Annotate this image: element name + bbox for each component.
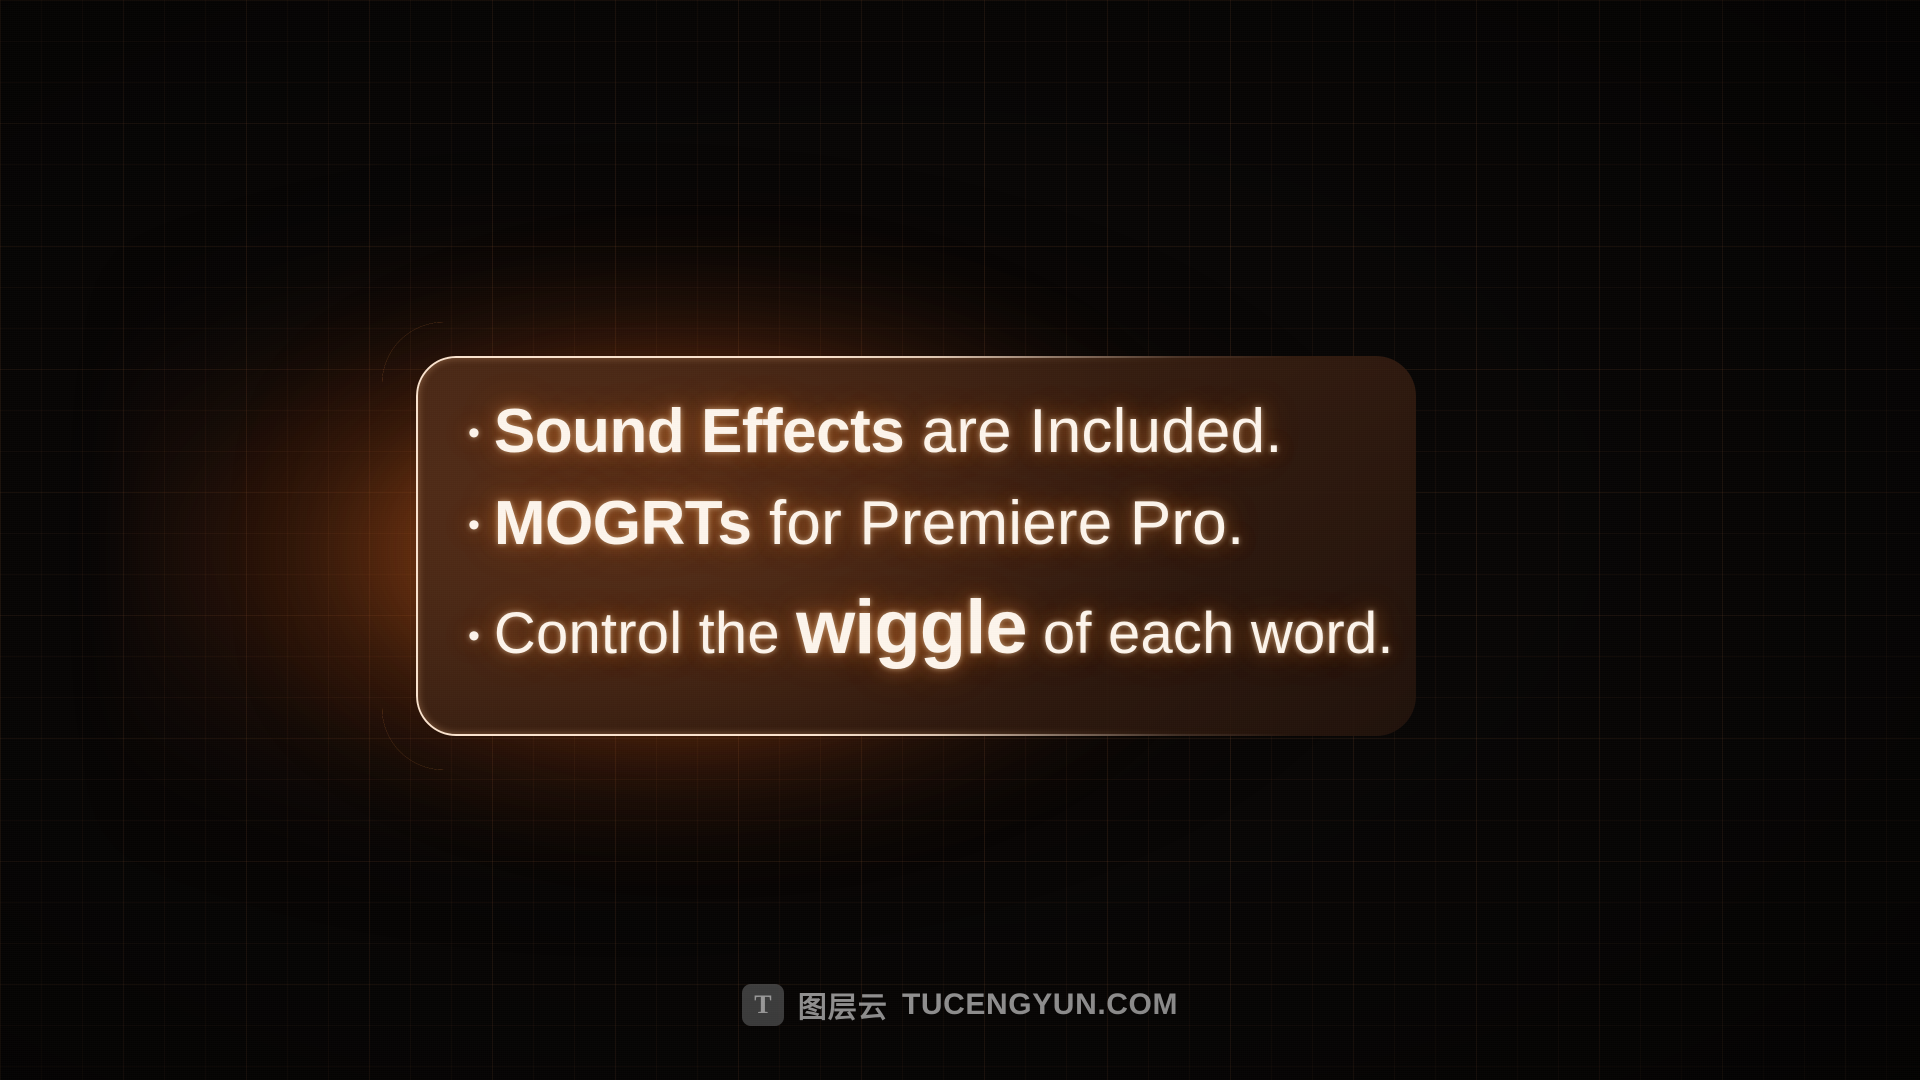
list-item: • Sound Effects are Included. [468, 396, 1868, 488]
watermark-domain-label: TUCENGYUN.COM [902, 988, 1178, 1022]
slide-canvas: • Sound Effects are Included. • MOGRTs f… [0, 0, 1920, 1080]
feature-list: • Sound Effects are Included. • MOGRTs f… [468, 396, 1868, 680]
list-item: • Control the wiggle of each word. [468, 584, 1868, 680]
bullet-icon: • [468, 619, 480, 653]
bullet-3-segment-2: wiggle [796, 584, 1026, 671]
bullet-icon: • [468, 508, 480, 542]
watermark-chinese-label: 图层云 [798, 984, 888, 1026]
bullet-icon: • [468, 416, 480, 450]
bullet-2-segment-2: for Premiere Pro. [752, 488, 1245, 559]
list-item: • MOGRTs for Premiere Pro. [468, 488, 1868, 584]
glow-card: • Sound Effects are Included. • MOGRTs f… [416, 356, 1416, 736]
bullet-3-segment-3: of each word. [1027, 600, 1394, 667]
watermark: T 图层云 TUCENGYUN.COM [0, 982, 1920, 1028]
bullet-2-segment-1: MOGRTs [494, 488, 752, 559]
bullet-3-segment-1: Control the [494, 600, 796, 667]
tucengyun-logo-icon: T [742, 984, 784, 1026]
bullet-1-segment-1: Sound Effects [494, 396, 904, 467]
bullet-1-segment-2: are Included. [904, 396, 1283, 467]
